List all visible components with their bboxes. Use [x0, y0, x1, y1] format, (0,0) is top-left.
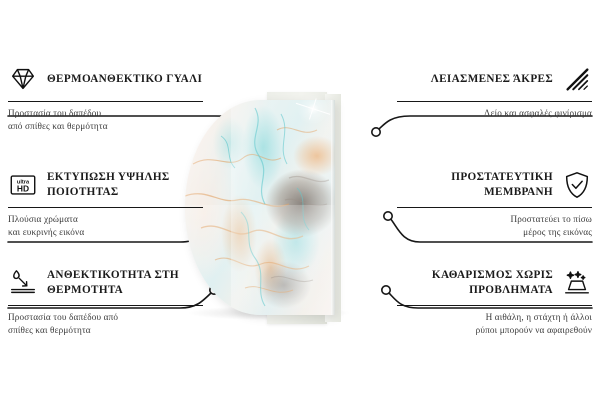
divider — [397, 305, 592, 306]
subtitle-line-2: ρύποι μπορούν να αφαιρεθούν — [397, 324, 592, 337]
subtitle-line-2: σπίθες και θερμότητα — [8, 324, 203, 337]
feature-header: ΘΕΡΜΟΑΝΘΕΚΤΙΚΟ ΓΥΑΛΙ — [8, 62, 203, 96]
infographic-canvas: ΘΕΡΜΟΑΝΘΕΚΤΙΚΟ ΓΥΑΛΙ Προστασία του δαπέδ… — [0, 0, 600, 400]
divider — [8, 207, 203, 208]
feature-heat-resistant-glass: ΘΕΡΜΟΑΝΘΕΚΤΙΚΟ ΓΥΑΛΙ Προστασία του δαπέδ… — [8, 62, 203, 134]
subtitle-line-2: μέρος της εικόνας — [397, 226, 592, 239]
feature-heat-resistance: ΑΝΘΕΚΤΙΚΟΤΗΤΑ ΣΤΗ ΘΕΡΜΟΤΗΤΑ Προστασία το… — [8, 266, 203, 338]
feature-high-quality-print: ultra HD ΕΚΤΥΠΩΣΗ ΥΨΗΛΗΣ ΠΟΙΟΤΗΤΑΣ Πλούσ… — [8, 168, 203, 240]
svg-text:HD: HD — [17, 184, 29, 194]
diamond-icon — [8, 64, 38, 94]
product-image — [185, 100, 385, 320]
glass-edge-highlight — [331, 100, 335, 315]
feature-header: ΠΡΟΣΤΑΤΕΥΤΙΚΗ ΜΕΜΒΡΑΝΗ — [397, 168, 592, 202]
feature-easy-cleaning: ΚΑΘΑΡΙΣΜΟΣ ΧΩΡΙΣ ΠΡΟΒΛΗΜΑΤΑ Η αιθάλη, η … — [397, 266, 592, 338]
feature-header: ultra HD ΕΚΤΥΠΩΣΗ ΥΨΗΛΗΣ ΠΟΙΟΤΗΤΑΣ — [8, 168, 203, 202]
subtitle-line-1: Προστασία του δαπέδου από — [8, 311, 203, 324]
feature-subtitle: Η αιθάλη, η στάχτη ή άλλοι ρύποι μπορούν… — [397, 311, 592, 338]
feature-title: ΚΑΘΑΡΙΣΜΟΣ ΧΩΡΙΣ ΠΡΟΒΛΗΜΑΤΑ — [397, 268, 553, 298]
easy-cleaning-icon — [562, 268, 592, 298]
feature-subtitle: Πλούσια χρώματα και ευκρινής εικόνα — [8, 213, 203, 240]
divider — [397, 101, 592, 102]
feature-subtitle: Προστατεύει το πίσω μέρος της εικόνας — [397, 213, 592, 240]
feature-subtitle: Προστασία του δαπέδου από σπίθες και θερ… — [8, 311, 203, 338]
feature-polished-edges: ΛΕΙΑΣΜΕΝΕΣ ΆΚΡΕΣ Λείο και ασφαλές φινίρι… — [397, 62, 592, 120]
divider — [8, 305, 203, 306]
glass-gloss — [185, 100, 335, 315]
divider — [8, 101, 203, 102]
divider — [397, 207, 592, 208]
subtitle-line-1: Πλούσια χρώματα — [8, 213, 203, 226]
glass-panel — [185, 100, 335, 315]
heat-resistance-icon — [8, 268, 38, 298]
subtitle-line-1: Προστασία του δαπέδου — [8, 107, 203, 120]
feature-subtitle: Λείο και ασφαλές φινίρισμα — [397, 107, 592, 120]
ultra-hd-icon: ultra HD — [8, 170, 38, 200]
feature-title: ΠΡΟΣΤΑΤΕΥΤΙΚΗ ΜΕΜΒΡΑΝΗ — [397, 170, 553, 200]
polished-edges-icon — [562, 64, 592, 94]
feature-header: ΚΑΘΑΡΙΣΜΟΣ ΧΩΡΙΣ ΠΡΟΒΛΗΜΑΤΑ — [397, 266, 592, 300]
feature-header: ΑΝΘΕΚΤΙΚΟΤΗΤΑ ΣΤΗ ΘΕΡΜΟΤΗΤΑ — [8, 266, 203, 300]
feature-header: ΛΕΙΑΣΜΕΝΕΣ ΆΚΡΕΣ — [397, 62, 592, 96]
feature-title: ΕΚΤΥΠΩΣΗ ΥΨΗΛΗΣ ΠΟΙΟΤΗΤΑΣ — [47, 170, 203, 200]
subtitle-line-1: Προστατεύει το πίσω — [397, 213, 592, 226]
subtitle-line-1: Λείο και ασφαλές φινίρισμα — [397, 107, 592, 120]
feature-title: ΑΝΘΕΚΤΙΚΟΤΗΤΑ ΣΤΗ ΘΕΡΜΟΤΗΤΑ — [47, 268, 203, 298]
feature-title: ΛΕΙΑΣΜΕΝΕΣ ΆΚΡΕΣ — [397, 72, 553, 87]
feature-subtitle: Προστασία του δαπέδου από σπίθες και θερ… — [8, 107, 203, 134]
feature-protective-membrane: ΠΡΟΣΤΑΤΕΥΤΙΚΗ ΜΕΜΒΡΑΝΗ Προστατεύει το πί… — [397, 168, 592, 240]
subtitle-line-2: και ευκρινής εικόνα — [8, 226, 203, 239]
shield-check-icon — [562, 170, 592, 200]
sparkle-highlight-icon — [293, 92, 333, 126]
subtitle-line-1: Η αιθάλη, η στάχτη ή άλλοι — [397, 311, 592, 324]
feature-title: ΘΕΡΜΟΑΝΘΕΚΤΙΚΟ ΓΥΑΛΙ — [47, 72, 203, 87]
subtitle-line-2: από σπίθες και θερμότητα — [8, 120, 203, 133]
